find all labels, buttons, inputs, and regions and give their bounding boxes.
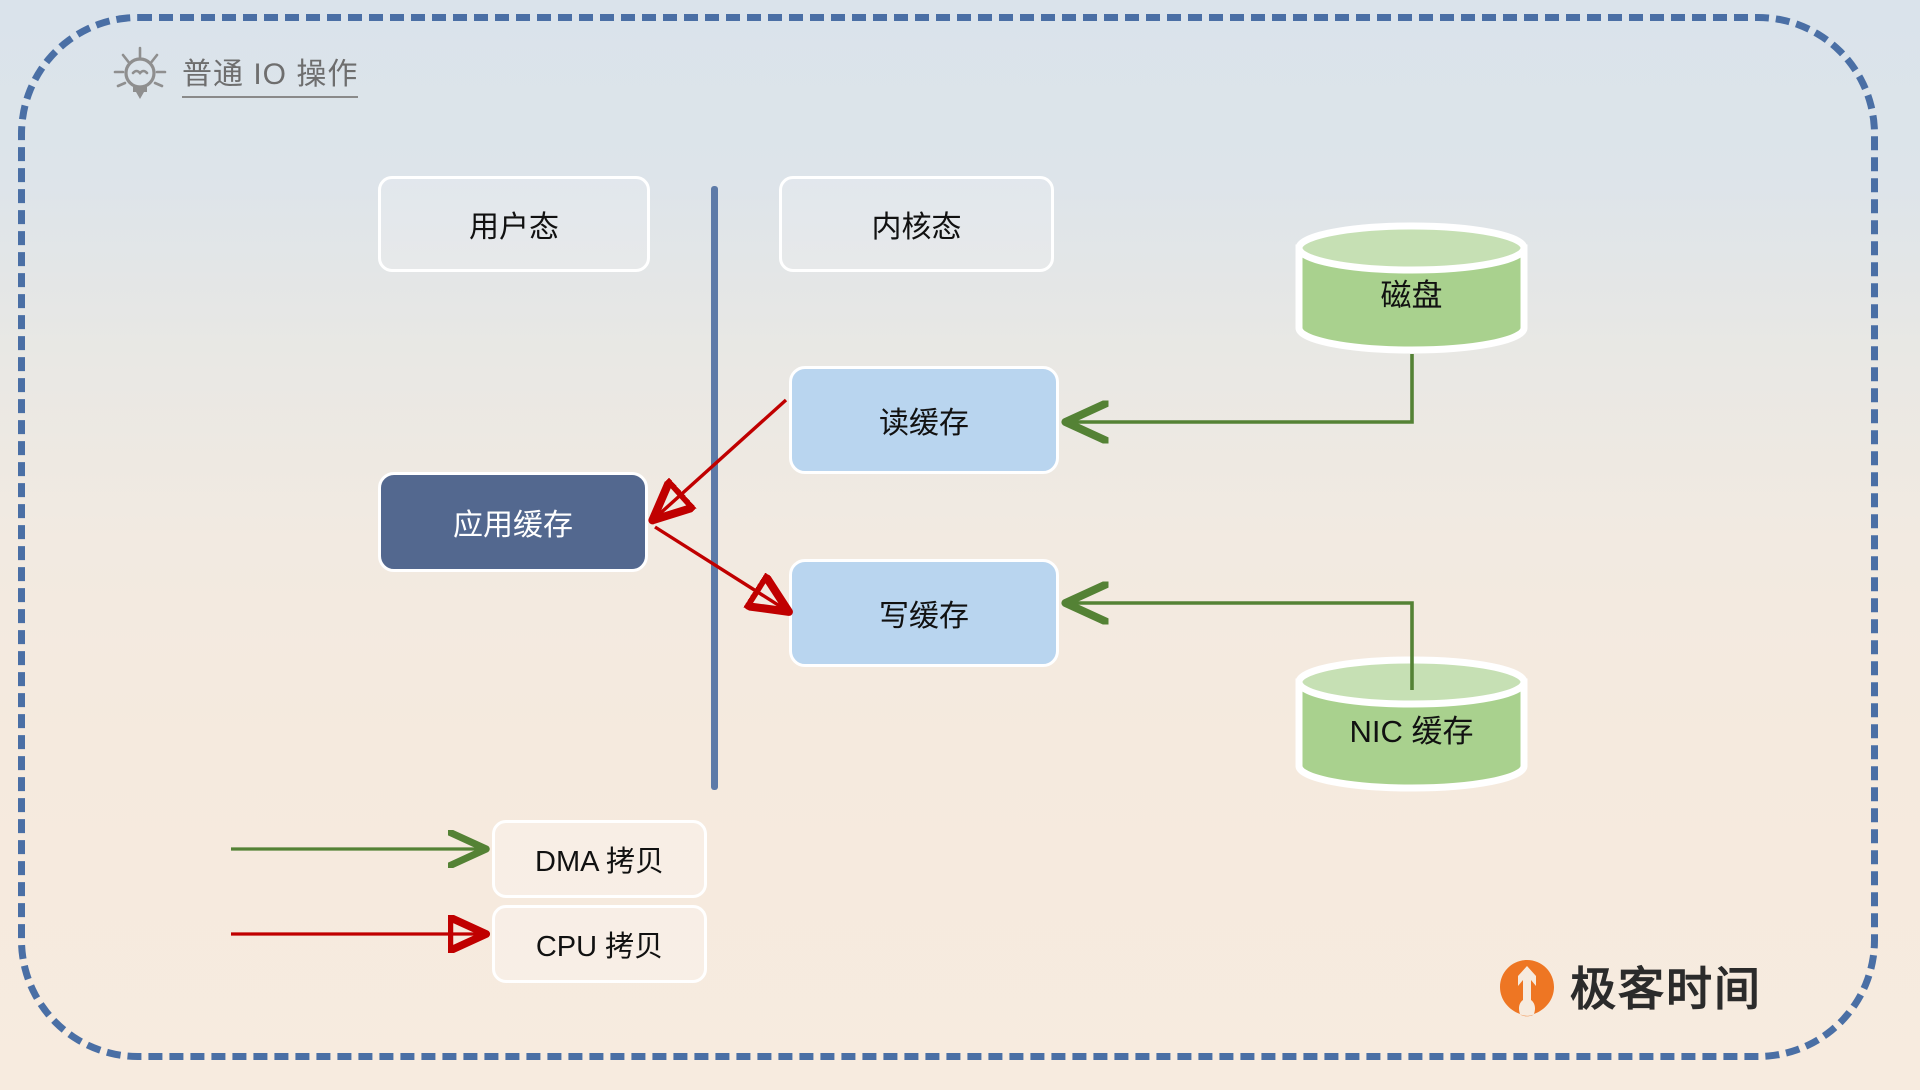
node-write-cache-label: 写缓存 bbox=[879, 591, 969, 635]
node-read-cache: 读缓存 bbox=[789, 366, 1059, 474]
zone-kernel-space: 内核态 bbox=[779, 176, 1054, 272]
zone-kernel-space-label: 内核态 bbox=[872, 202, 962, 246]
header: 普通 IO 操作 bbox=[112, 46, 358, 110]
zone-user-space-label: 用户态 bbox=[469, 202, 559, 246]
edge-app-cache-to-write-cache bbox=[655, 527, 786, 610]
dashed-frame-border bbox=[18, 14, 1878, 1060]
diagram-canvas: 普通 IO 操作 用户态 内核态 读缓存 写缓存 应用缓存 磁盘 NIC 缓存 bbox=[0, 0, 1920, 1090]
brand-logo: 极客时间 bbox=[1498, 958, 1762, 1020]
user-kernel-boundary-divider bbox=[711, 186, 718, 790]
page-title: 普通 IO 操作 bbox=[182, 58, 358, 99]
lightbulb-icon bbox=[112, 46, 168, 110]
node-read-cache-label: 读缓存 bbox=[879, 398, 969, 442]
brand-name: 极客时间 bbox=[1570, 966, 1762, 1012]
node-nic-buffer: NIC 缓存 bbox=[1295, 654, 1528, 794]
legend-item-dma-label: DMA 拷贝 bbox=[535, 838, 664, 880]
legend-item-cpu: CPU 拷贝 bbox=[492, 905, 707, 983]
node-write-cache: 写缓存 bbox=[789, 559, 1059, 667]
geektime-logo-icon bbox=[1498, 958, 1556, 1020]
edge-read-cache-to-app-cache bbox=[655, 400, 786, 518]
arrow-layer bbox=[0, 0, 1920, 1090]
legend-item-dma: DMA 拷贝 bbox=[492, 820, 707, 898]
zone-user-space: 用户态 bbox=[378, 176, 650, 272]
legend-item-cpu-label: CPU 拷贝 bbox=[536, 923, 663, 965]
node-app-cache-label: 应用缓存 bbox=[453, 500, 573, 544]
node-disk: 磁盘 bbox=[1295, 222, 1528, 354]
node-app-cache: 应用缓存 bbox=[378, 472, 648, 572]
edge-disk-to-read-cache bbox=[1069, 354, 1412, 422]
